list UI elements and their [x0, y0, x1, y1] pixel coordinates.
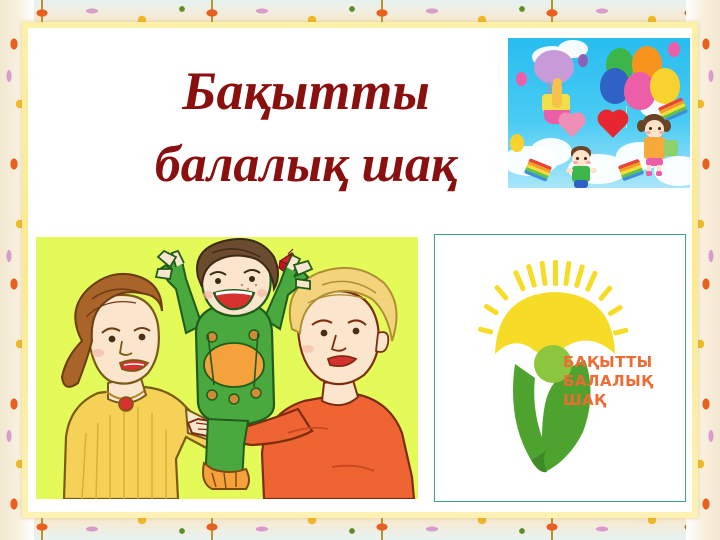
logo-box: БАҚЫТТЫ БАЛАЛЫҚ ШАҚ	[434, 234, 686, 502]
sun-arc-icon	[495, 292, 615, 354]
logo-text-line-3: ШАҚ	[563, 391, 653, 410]
logo-text-line-1: БАҚЫТТЫ	[563, 353, 653, 372]
balloons-girl	[636, 114, 672, 176]
content-card: Бақытты балалық шақ	[28, 28, 692, 512]
family-illustration-art	[36, 237, 418, 499]
slide: Бақытты балалық шақ	[0, 0, 720, 540]
logo-text-line-2: БАЛАЛЫҚ	[563, 372, 653, 391]
title-line-2: балалық шақ	[46, 129, 566, 201]
balloons-boy	[566, 146, 598, 188]
title-line-1: Бақытты	[46, 54, 566, 129]
logo-text: БАҚЫТТЫ БАЛАЛЫҚ ШАҚ	[563, 353, 653, 411]
family-illustration	[36, 237, 418, 499]
page-title: Бақытты балалық шақ	[46, 54, 566, 200]
